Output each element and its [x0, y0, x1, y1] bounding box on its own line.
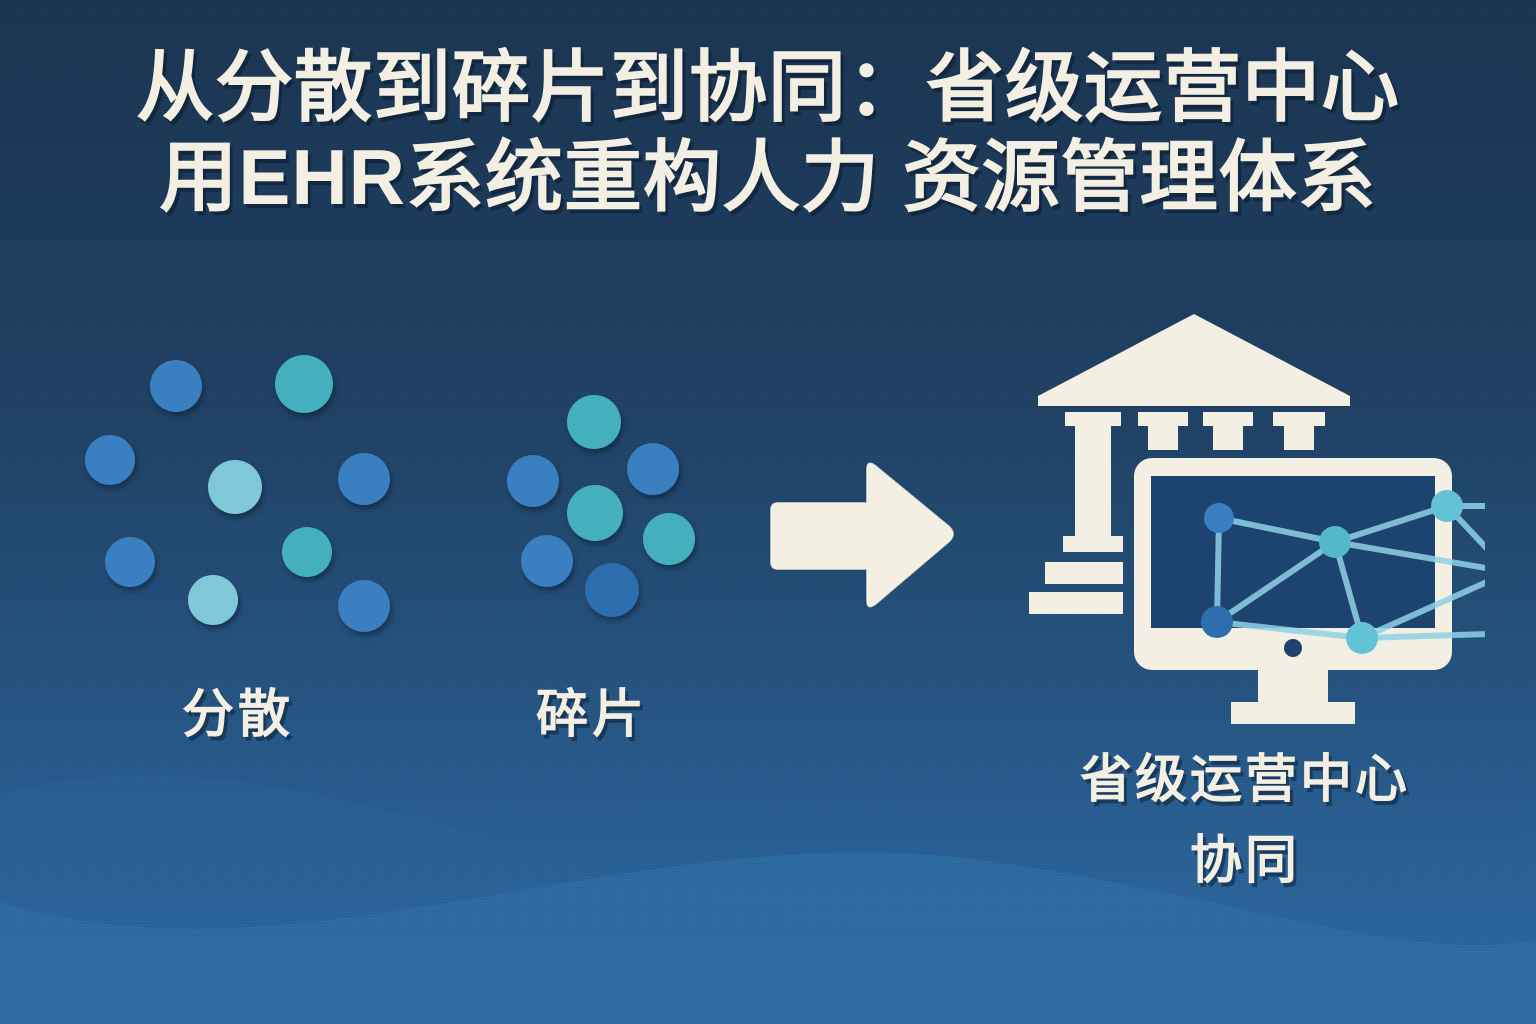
scattered-dot [338, 580, 390, 632]
network-node [1431, 490, 1463, 522]
hub-label-group: 省级运营中心 协同 [1005, 740, 1485, 901]
slide-canvas: 从分散到碎片到协同：省级运营中心 用EHR系统重构人力 资源管理体系 分散 碎片 [0, 0, 1536, 1024]
scattered-dot [208, 460, 262, 514]
network-node [1346, 622, 1378, 654]
hub-icon [1005, 300, 1485, 740]
fragmented-dot [567, 485, 623, 541]
scattered-dot [338, 453, 390, 505]
title-line-1: 从分散到碎片到协同：省级运营中心 [0, 42, 1536, 132]
arrow-container [762, 452, 962, 622]
scattered-dot [275, 355, 333, 413]
network-node [1319, 526, 1351, 558]
title-line-2: 用EHR系统重构人力 资源管理体系 [0, 132, 1536, 222]
stage-label-fragmented: 碎片 [536, 672, 648, 747]
slide-title: 从分散到碎片到协同：省级运营中心 用EHR系统重构人力 资源管理体系 [0, 42, 1536, 223]
fragmented-dot [585, 563, 639, 617]
scattered-dot [85, 435, 135, 485]
scattered-dot [282, 527, 332, 577]
scattered-dot [150, 360, 202, 412]
fragmented-dot [627, 443, 679, 495]
fragmented-dot-cluster [495, 395, 715, 625]
hub-label-primary: 省级运营中心 [1005, 740, 1485, 821]
fragmented-dot [521, 535, 573, 587]
fragmented-dot [567, 395, 621, 449]
scattered-dot [105, 537, 155, 587]
fragmented-dot [507, 455, 559, 507]
hub-label-secondary: 协同 [1005, 821, 1485, 902]
provincial-hub-icon-container [1005, 300, 1485, 740]
fragmented-dot [643, 513, 695, 565]
stage-label-scattered: 分散 [182, 672, 294, 747]
network-node [1201, 606, 1233, 638]
scattered-dot-cluster [60, 345, 450, 645]
network-node [1204, 503, 1234, 533]
scattered-dot [188, 575, 238, 625]
right-arrow-icon [762, 452, 962, 622]
monitor-icon [1134, 458, 1452, 724]
